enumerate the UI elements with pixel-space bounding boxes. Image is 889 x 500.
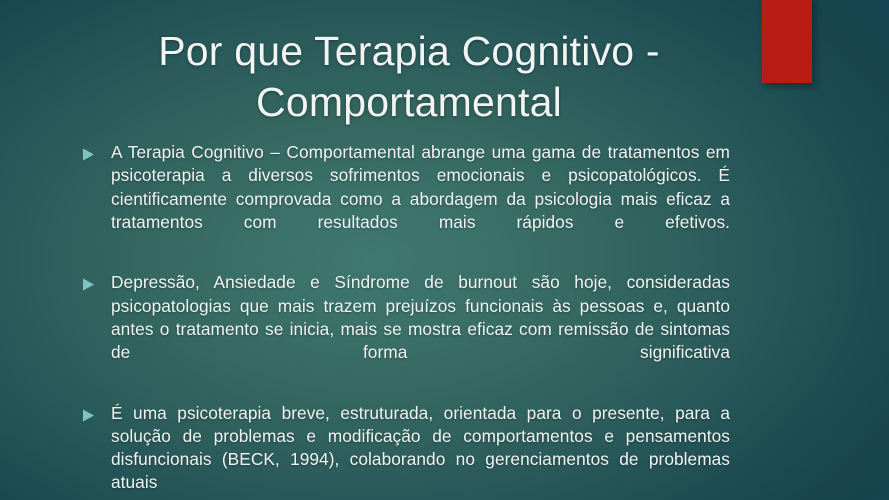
bullet-text: É uma psicoterapia breve, estruturada, o… bbox=[111, 402, 730, 500]
bullet-item: A Terapia Cognitivo – Comportamental abr… bbox=[82, 141, 730, 257]
presentation-slide: Por que Terapia Cognitivo - Comportament… bbox=[0, 0, 889, 500]
bullet-item: Depressão, Ansiedade e Síndrome de burno… bbox=[82, 271, 730, 387]
slide-body: A Terapia Cognitivo – Comportamental abr… bbox=[82, 141, 730, 500]
triangle-right-icon bbox=[82, 141, 111, 161]
bullet-item: É uma psicoterapia breve, estruturada, o… bbox=[82, 402, 730, 500]
bullet-text: A Terapia Cognitivo – Comportamental abr… bbox=[111, 141, 730, 257]
bullet-text: Depressão, Ansiedade e Síndrome de burno… bbox=[111, 271, 730, 387]
slide-title: Por que Terapia Cognitivo - Comportament… bbox=[64, 26, 754, 128]
triangle-right-icon bbox=[82, 402, 111, 422]
triangle-right-icon bbox=[82, 271, 111, 291]
accent-rectangle bbox=[762, 0, 812, 83]
